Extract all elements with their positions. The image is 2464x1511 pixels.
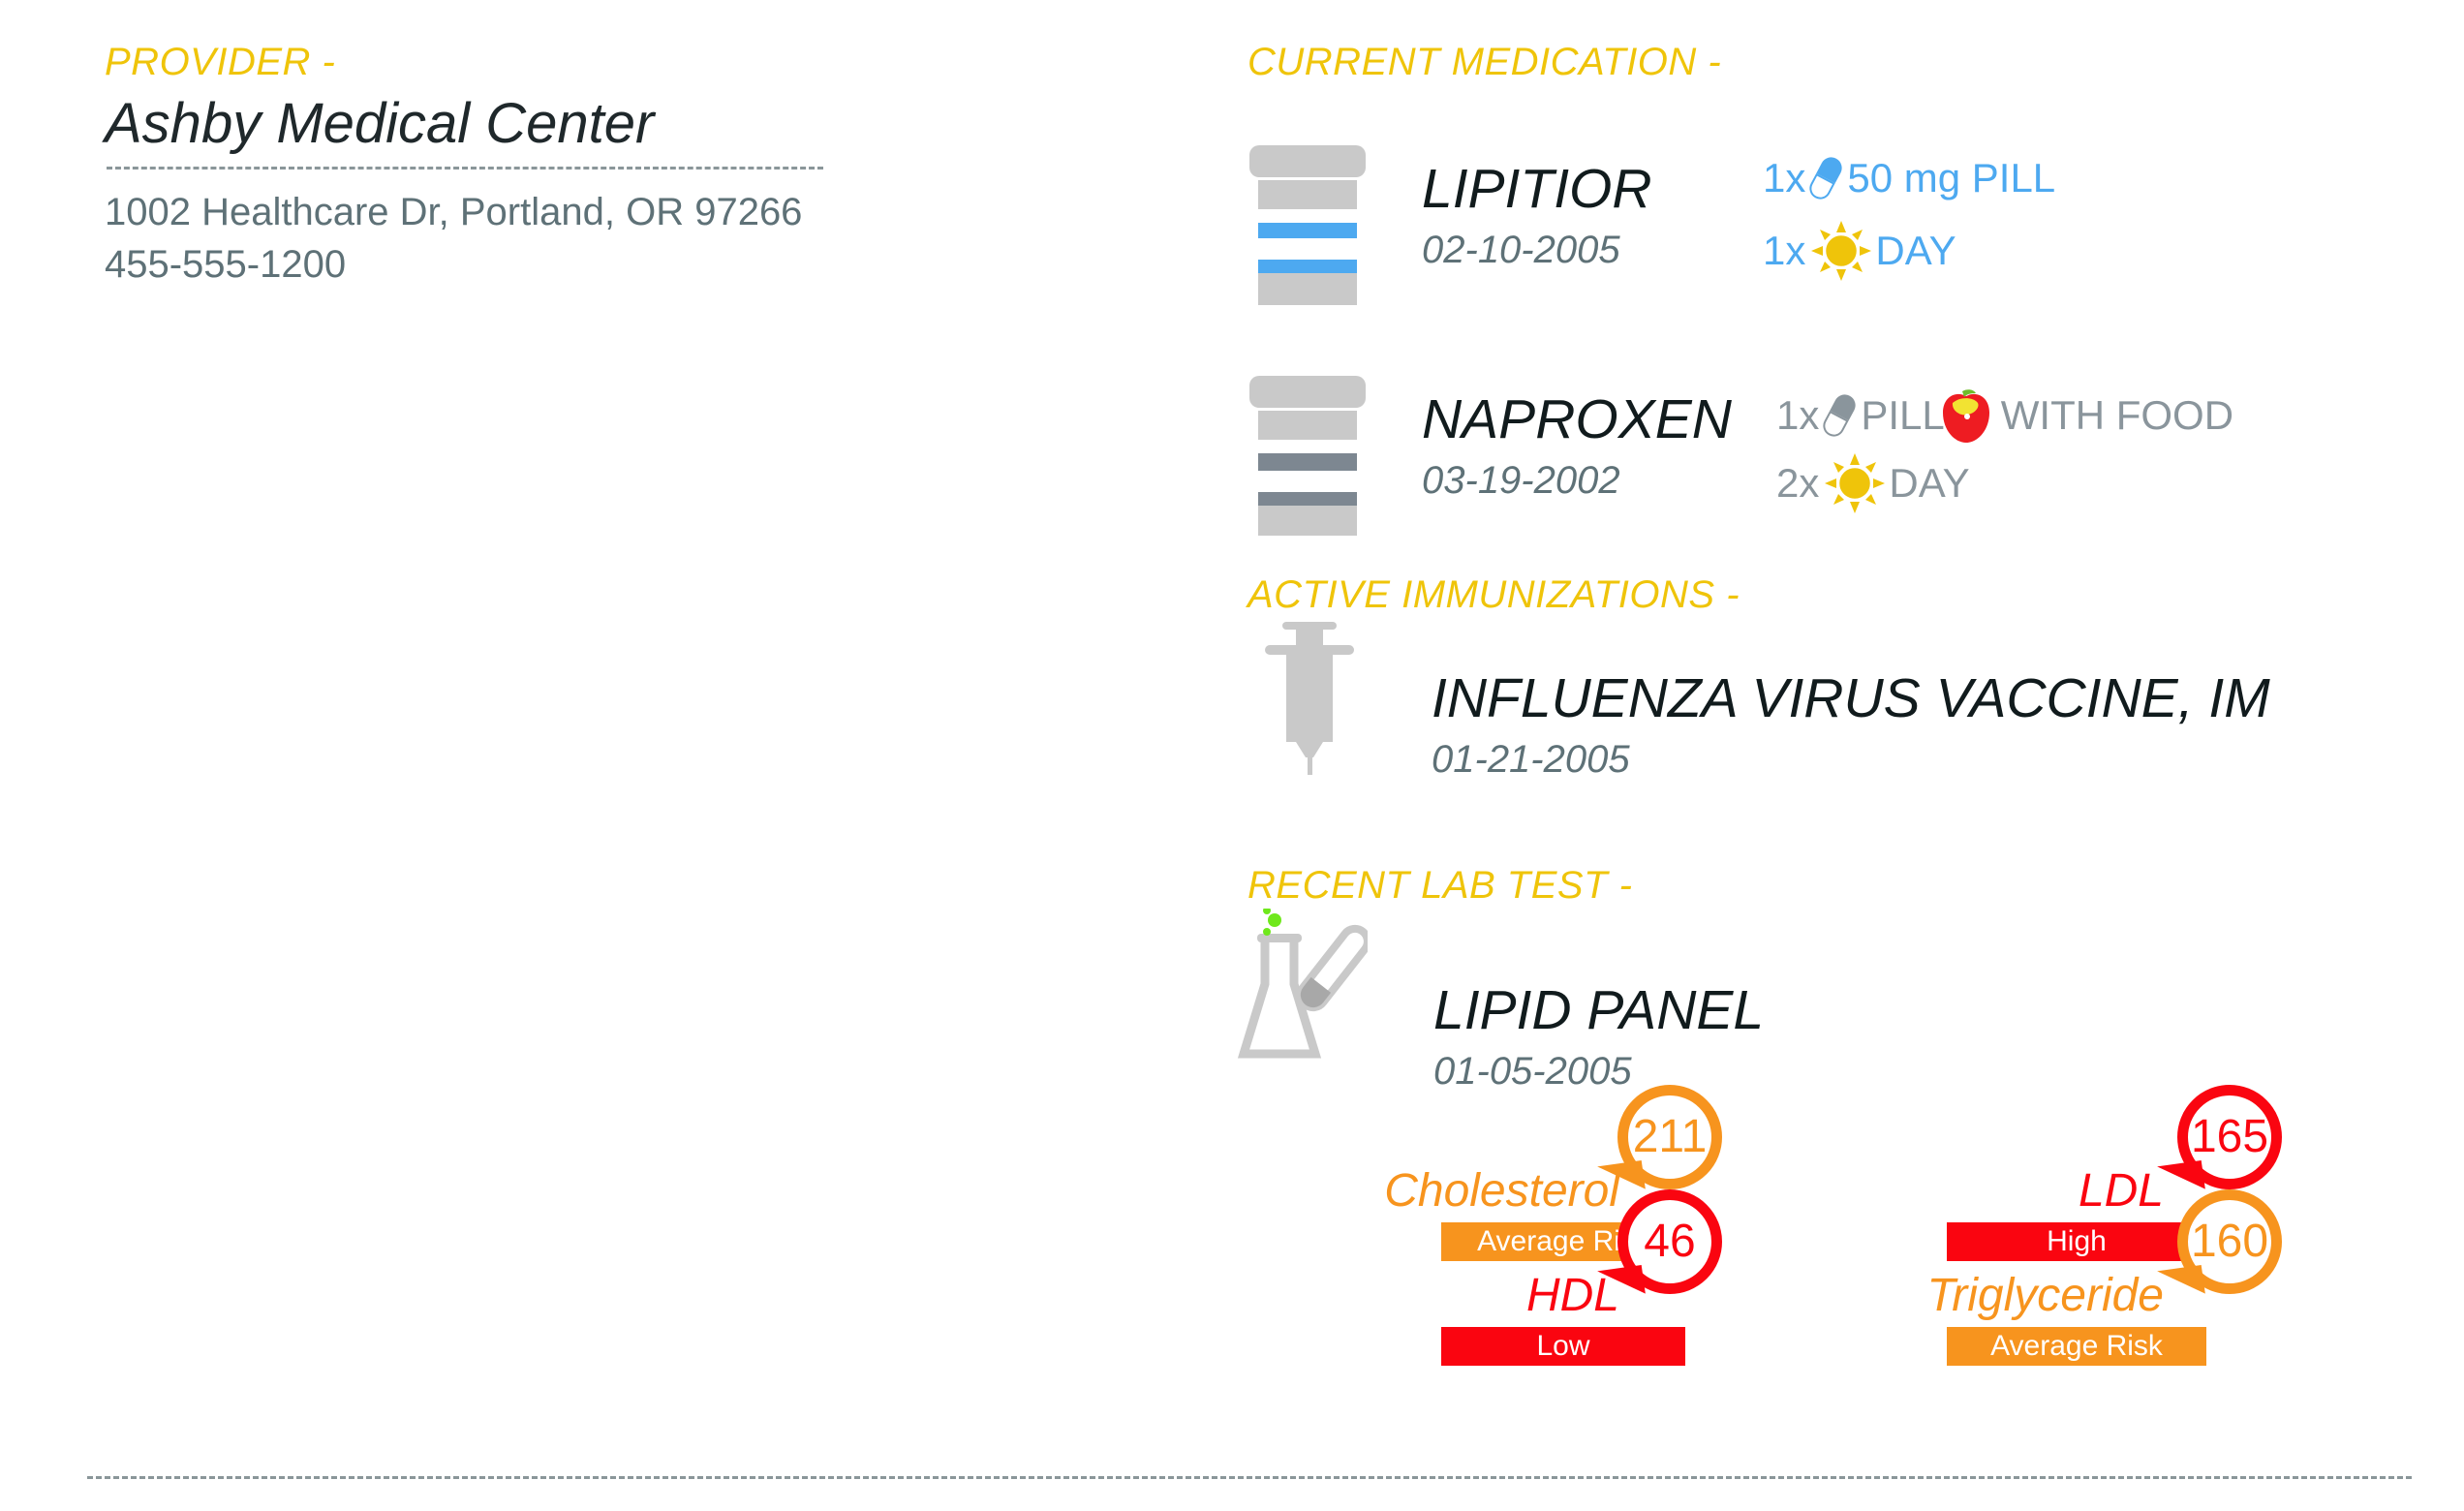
syringe-icon: [1259, 620, 1366, 780]
lab-metric-value: 211: [1633, 1111, 1708, 1162]
lab-metric-label: Triglyceride: [1927, 1269, 2165, 1322]
immunizations-section-label: ACTIVE IMMUNIZATIONS -: [1247, 573, 1740, 617]
provider-phone: 455-555-1200: [105, 238, 802, 291]
bottle-stripe: [1258, 223, 1357, 238]
lab-metric-triglyceride: Triglyceride Average Risk 160: [1927, 1189, 2295, 1373]
dose-quantity: 1x: [1763, 155, 1805, 201]
frequency-text: DAY: [1875, 228, 1956, 274]
bottle-stripe: [1258, 453, 1357, 471]
with-food-text: WITH FOOD: [2001, 392, 2233, 439]
frequency-text: DAY: [1889, 460, 1969, 507]
bottle-gap: [1258, 238, 1357, 260]
immunization-row-influenza: INFLUENZA VIRUS VACCINE, IM 01-21-2005: [1249, 620, 2460, 794]
bottle-gap: [1258, 209, 1357, 223]
dose-text: 50 mg PILL: [1847, 155, 2055, 201]
lab-metric-hdl: HDL Low 46: [1385, 1189, 1734, 1373]
lab-metric-value: 165: [2191, 1111, 2268, 1162]
capsule-icon: [1820, 391, 1860, 441]
medication-row-lipitior: LIPITIOR 02-10-2005 1x 50 mg PILL 1x DAY: [1249, 136, 2412, 310]
bottle-gap: [1258, 440, 1357, 453]
medication-name: LIPITIOR: [1422, 157, 1652, 221]
bottle-stripe: [1258, 260, 1357, 273]
pill-bottle-icon: [1249, 145, 1366, 305]
provider-name: Ashby Medical Center: [105, 91, 654, 156]
medication-dose-line: 1x PILL WITH FOOD: [1776, 387, 2233, 444]
lab-test-row-lipid-panel: LIPID PANEL 01-05-2005: [1232, 909, 2443, 1102]
dose-quantity: 1x: [1776, 392, 1819, 439]
immunization-name: INFLUENZA VIRUS VACCINE, IM: [1432, 666, 2270, 730]
bubble-tail: [1597, 1265, 1646, 1300]
lab-metric-value-bubble: 46: [1617, 1189, 1722, 1294]
frequency-quantity: 1x: [1763, 228, 1805, 274]
medication-frequency-line: 2x DAY: [1776, 453, 1970, 513]
provider-address-block: 1002 Healthcare Dr, Portland, OR 97266 4…: [105, 186, 802, 291]
provider-address-line: 1002 Healthcare Dr, Portland, OR 97266: [105, 186, 802, 238]
bottle-stripe: [1258, 492, 1357, 506]
provider-section-label: PROVIDER -: [105, 41, 335, 84]
lab-metric-value-bubble: 211: [1617, 1085, 1722, 1189]
sun-icon: [1811, 221, 1871, 281]
lab-metric-value: 46: [1644, 1216, 1695, 1267]
lab-metric-value: 160: [2191, 1216, 2268, 1267]
lab-metric-value-bubble: 160: [2177, 1189, 2282, 1294]
flask-icon: [1232, 909, 1368, 1078]
capsule-icon: [1806, 154, 1846, 203]
lab-metric-status-badge: Low: [1441, 1327, 1685, 1366]
lab-metric-value-bubble: 165: [2177, 1085, 2282, 1189]
apple-icon: [1939, 387, 1993, 444]
medication-start-date: 03-19-2002: [1422, 459, 1620, 503]
medication-start-date: 02-10-2005: [1422, 229, 1620, 272]
medication-row-naproxen: NAPROXEN 03-19-2002 1x PILL WITH FOOD 2x: [1249, 366, 2460, 540]
lab-panel-name: LIPID PANEL: [1433, 978, 1764, 1042]
medication-section-label: CURRENT MEDICATION -: [1247, 41, 1721, 84]
lab-test-section-label: RECENT LAB TEST -: [1247, 864, 1632, 908]
dose-text: PILL: [1861, 392, 1944, 439]
bottle-gap: [1258, 471, 1357, 492]
bubble-tail: [2157, 1265, 2205, 1300]
bottle-cap: [1249, 145, 1366, 177]
sun-icon: [1825, 453, 1885, 513]
page-bottom-divider: [87, 1476, 2412, 1479]
medication-dose-line: 1x 50 mg PILL: [1763, 155, 2055, 201]
frequency-quantity: 2x: [1776, 460, 1819, 507]
pill-bottle-icon: [1249, 376, 1366, 536]
bottle-cap: [1249, 376, 1366, 408]
lab-metric-status-badge: Average Risk: [1947, 1327, 2206, 1366]
immunization-date: 01-21-2005: [1432, 738, 1630, 782]
provider-name-divider: [107, 167, 823, 170]
medication-name: NAPROXEN: [1422, 387, 1732, 451]
medication-frequency-line: 1x DAY: [1763, 221, 1956, 281]
